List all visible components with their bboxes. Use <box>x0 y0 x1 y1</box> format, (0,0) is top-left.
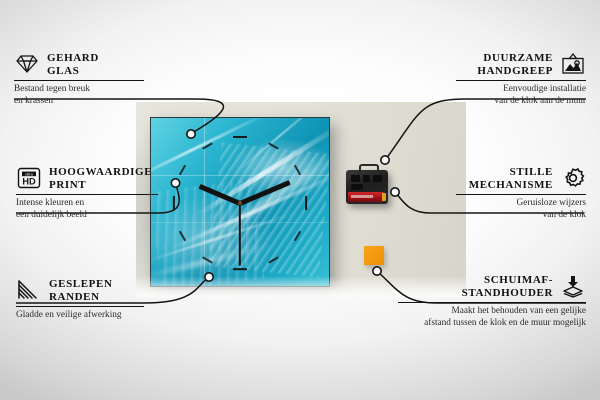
ultra-hd-icon: ultra HD <box>16 166 42 190</box>
feature-duurzame-handgreep[interactable]: DUURZAME HANDGREEP Eenvoudige installati… <box>456 52 586 107</box>
feature-subtitle: Gladde en veilige afwerking <box>16 310 144 321</box>
feature-subtitle: Eenvoudige installatie van de klok aan d… <box>456 84 586 107</box>
feature-title: GEHARD GLAS <box>47 52 99 77</box>
glass-reflection-line <box>151 175 329 176</box>
battery-label <box>351 195 373 198</box>
foam-stand-icon <box>560 274 586 298</box>
clock-hour-tick <box>233 268 247 270</box>
clock-movement <box>346 170 388 204</box>
feature-hoogwaardige-print[interactable]: ultra HD HOOGWAARDIGE PRINT Intense kleu… <box>16 166 158 221</box>
feature-header: SCHUIMAF- STANDHOUDER <box>398 274 586 299</box>
feature-title: STILLE MECHANISME <box>469 166 553 191</box>
battery-positive-cap <box>382 193 386 201</box>
svg-text:HD: HD <box>22 177 36 187</box>
feature-subtitle: Intense kleuren en een duidelijk beeld <box>16 198 158 221</box>
feature-divider <box>14 80 144 81</box>
svg-text:ultra: ultra <box>25 171 33 176</box>
glass-reflection-line <box>204 118 205 286</box>
clock-hour-tick <box>305 196 307 210</box>
feature-geslepen-randen[interactable]: GESLEPEN RANDEN Gladde en veilige afwerk… <box>16 278 144 322</box>
feature-header: GESLEPEN RANDEN <box>16 278 144 303</box>
feature-header: STILLE MECHANISME <box>456 166 586 191</box>
feature-title: HOOGWAARDIGE PRINT <box>49 166 152 191</box>
feature-title: DUURZAME HANDGREEP <box>477 52 553 77</box>
movement-slot <box>363 175 370 182</box>
infographic-page: GEHARD GLAS Bestand tegen breuk en krass… <box>0 0 600 400</box>
movement-slot <box>351 184 363 190</box>
feature-gehard-glas[interactable]: GEHARD GLAS Bestand tegen breuk en krass… <box>14 52 144 107</box>
feature-schuimafstandhouder[interactable]: SCHUIMAF- STANDHOUDER Maakt het behouden… <box>398 274 586 329</box>
diamond-icon <box>14 52 40 76</box>
feature-title: GESLEPEN RANDEN <box>49 278 113 303</box>
feature-divider <box>456 80 586 81</box>
feature-header: ultra HD HOOGWAARDIGE PRINT <box>16 166 158 191</box>
feature-subtitle: Geruisloze wijzers van de klok <box>456 198 586 221</box>
feature-subtitle: Bestand tegen breuk en krassen <box>14 84 144 107</box>
product-photo <box>136 102 466 297</box>
movement-hanger <box>359 164 379 174</box>
feature-divider <box>398 302 586 303</box>
feature-header: GEHARD GLAS <box>14 52 144 77</box>
clock-battery <box>348 192 384 202</box>
clock-hour-tick <box>233 136 247 138</box>
foam-spacer-pad <box>364 246 384 265</box>
feature-divider <box>456 194 586 195</box>
clock-center-pin <box>238 201 242 205</box>
glass-wall-clock <box>150 117 330 287</box>
feature-subtitle: Maakt het behouden van een gelijke afsta… <box>398 306 586 329</box>
beveled-edges-icon <box>16 278 42 302</box>
feature-stille-mechanisme[interactable]: STILLE MECHANISME Geruisloze wijzers van… <box>456 166 586 221</box>
feature-divider <box>16 306 144 307</box>
gear-icon <box>560 166 586 190</box>
movement-slot <box>373 175 382 182</box>
feature-header: DUURZAME HANDGREEP <box>456 52 586 77</box>
clock-hour-tick <box>173 196 175 210</box>
feature-divider <box>16 194 158 195</box>
movement-slot <box>351 175 360 182</box>
clock-second-hand <box>239 203 241 266</box>
framed-picture-icon <box>560 52 586 76</box>
feature-title: SCHUIMAF- STANDHOUDER <box>462 274 553 299</box>
